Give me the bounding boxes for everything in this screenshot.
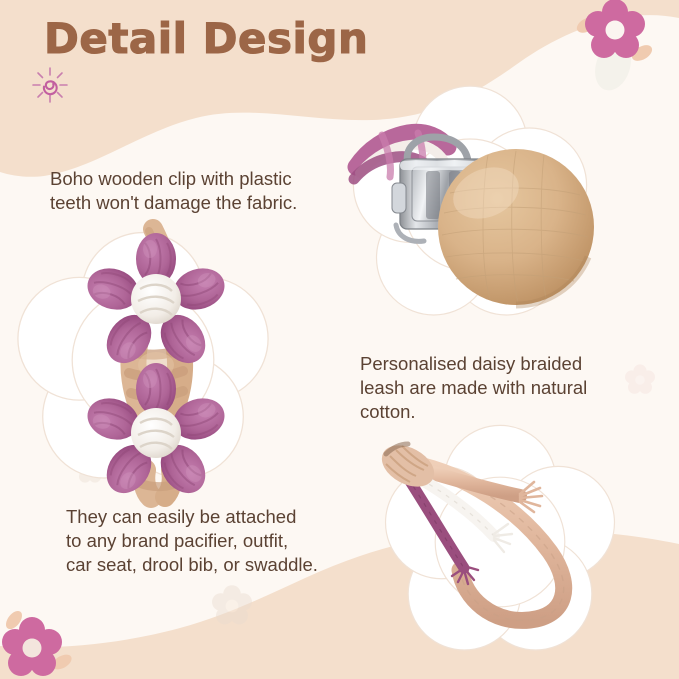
decorative-flower-watermark: [212, 585, 252, 624]
caption-attachment: They can easily be attached to any brand…: [66, 505, 386, 577]
page-title: Detail Design: [44, 14, 368, 63]
braided-daisy-photo: [25, 225, 290, 500]
decorative-flower: [2, 608, 74, 676]
wooden-bead: [438, 149, 594, 305]
cotton-cord-photo: [368, 430, 633, 655]
wooden-clip-photo: [330, 75, 620, 325]
sun-doodle: [33, 68, 67, 102]
infographic-page: Detail Design: [0, 0, 679, 679]
crochet-daisy-flower: [82, 363, 230, 502]
caption-daisy-leash: Personalised daisy braided leash are mad…: [360, 352, 640, 424]
caption-wooden-clip: Boho wooden clip with plastic teeth won'…: [50, 167, 360, 215]
decorative-flower: [574, 0, 655, 64]
